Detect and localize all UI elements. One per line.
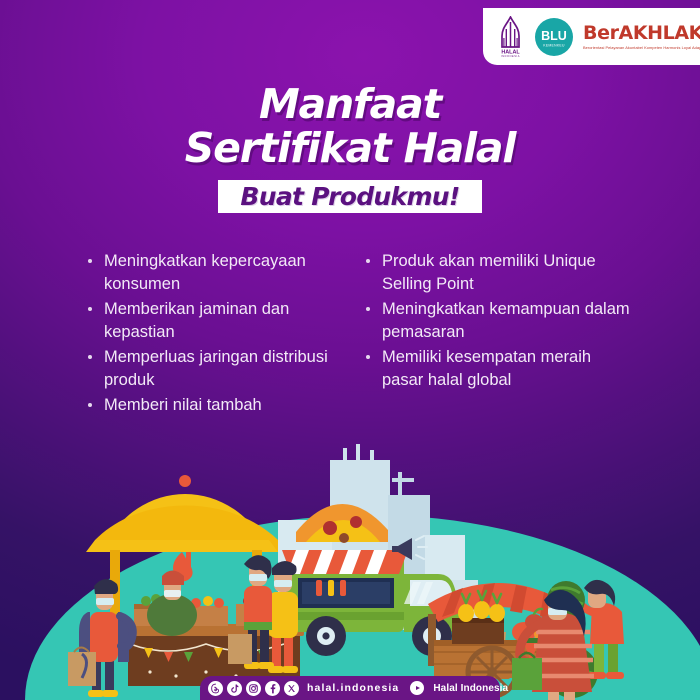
instagram-icon[interactable]: [246, 681, 261, 696]
benefit-item: Meningkatkan kemampuan dalam pemasaran: [366, 298, 632, 344]
berakhlak-logo: BerAKHLAK Berorientasi Pelayanan Akuntab…: [583, 24, 700, 50]
tent-finial-icon: [179, 475, 191, 487]
berakhlak-wordmark: BerAKHLAK: [583, 22, 700, 44]
blu-logo-text: BLU: [541, 29, 567, 43]
headline-line-1: Manfaat: [0, 82, 700, 126]
benefit-item: Memperluas jaringan distribusi produk: [88, 346, 350, 392]
headline-block: Manfaat Sertifikat Halal: [0, 82, 700, 171]
facebook-icon[interactable]: [265, 681, 280, 696]
benefit-item: Meningkatkan kepercayaan konsumen: [88, 250, 350, 296]
blu-logo-subtext: KEMENKEU: [543, 43, 565, 47]
youtube-channel-name[interactable]: Halal Indonesia: [433, 683, 508, 694]
tiktok-icon[interactable]: [227, 681, 242, 696]
benefit-item: Memberikan jaminan dan kepastian: [88, 298, 350, 344]
benefits-section: Meningkatkan kepercayaan konsumen Member…: [0, 250, 700, 419]
x-twitter-icon[interactable]: [284, 681, 299, 696]
poster-canvas: HALAL INDONESIA BLU KEMENKEU BerAKHLAK B…: [0, 0, 700, 700]
headline-banner: Buat Produkmu!: [218, 180, 482, 213]
market-illustration: 30% OFF: [0, 400, 700, 700]
berakhlak-subtitle: Berorientasi Pelayanan Akuntabel Kompete…: [583, 45, 700, 50]
social-handle[interactable]: halal.indonesia: [307, 682, 399, 694]
youtube-play-triangle: [416, 686, 420, 690]
brand-logo-card: HALAL INDONESIA BLU KEMENKEU BerAKHLAK B…: [483, 8, 700, 65]
blu-kemenkeu-logo-icon: BLU KEMENKEU: [534, 17, 574, 57]
social-footer-bar: halal.indonesia Halal Indonesia: [200, 676, 500, 700]
headline-banner-text: Buat Produkmu!: [240, 182, 459, 211]
headline-line-2: Sertifikat Halal: [0, 126, 700, 171]
threads-icon[interactable]: [208, 681, 223, 696]
youtube-icon[interactable]: [410, 681, 424, 695]
halal-logo-subtext: INDONESIA: [501, 55, 520, 58]
benefits-column-left: Meningkatkan kepercayaan konsumen Member…: [0, 250, 350, 419]
benefit-item: Produk akan memiliki Unique Selling Poin…: [366, 250, 632, 296]
halal-indonesia-logo-icon: HALAL INDONESIA: [494, 16, 527, 58]
market-scene-svg: 30% OFF: [0, 400, 700, 700]
benefits-column-right: Produk akan memiliki Unique Selling Poin…: [350, 250, 700, 419]
benefit-item: Memiliki kesempatan meraih pasar halal g…: [366, 346, 632, 392]
